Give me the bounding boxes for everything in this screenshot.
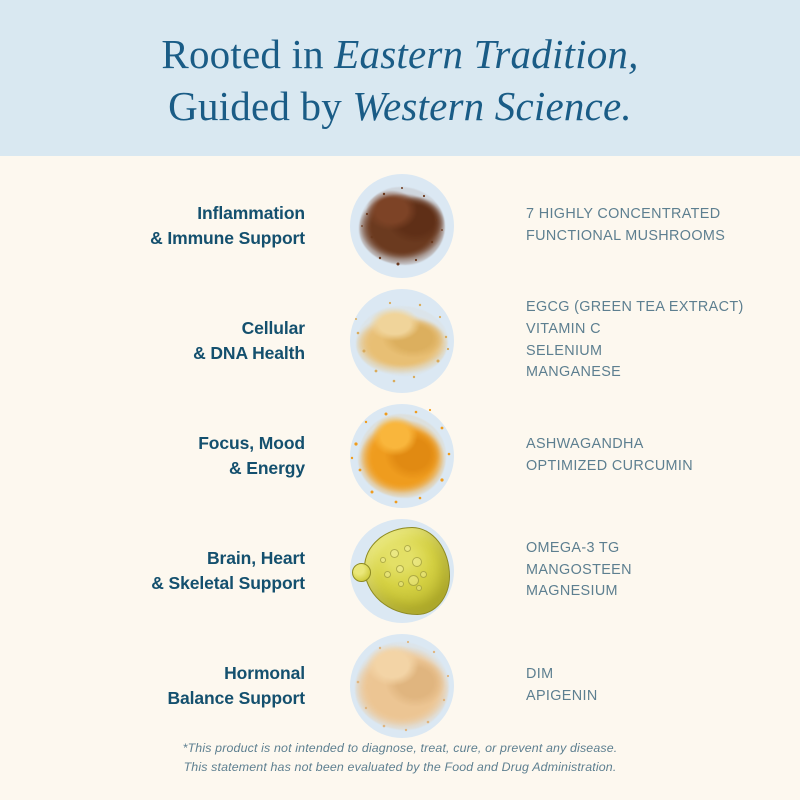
benefit-label: Hormonal Balance Support [0,661,305,711]
benefit-row: Brain, Heart & Skeletal Support [0,513,800,628]
benefit-ingredients: DIM APIGENIN [498,664,800,708]
ingredient-item: OMEGA-3 TG [526,538,800,560]
ingredient-item: APIGENIN [526,686,800,708]
ingredient-item: VITAMIN C [526,319,800,341]
benefit-label: Inflammation & Immune Support [0,201,305,251]
ingredient-item: OPTIMIZED CURCUMIN [526,456,800,478]
headline-line-1: Rooted in Eastern Tradition, [161,28,638,80]
oil-bubble [384,571,391,578]
benefit-ingredients: 7 HIGHLY CONCENTRATED FUNCTIONAL MUSHROO… [498,204,800,248]
benefit-label: Focus, Mood & Energy [0,431,305,481]
oil-bubble [416,585,422,591]
benefit-label: Cellular & DNA Health [0,316,305,366]
benefit-label-line-2: & Immune Support [0,226,305,251]
benefit-label-line-2: & DNA Health [0,341,305,366]
benefit-ingredients: EGCG (GREEN TEA EXTRACT) VITAMIN C SELEN… [498,297,800,385]
powder-mound [356,306,448,376]
oil-small-droplet [352,563,371,582]
benefit-label-line-1: Cellular [0,316,305,341]
ingredient-item: MAGNESIUM [526,581,800,603]
header-banner: Rooted in Eastern Tradition, Guided by W… [0,0,800,156]
benefit-label-line-1: Hormonal [0,661,305,686]
ingredient-item: FUNCTIONAL MUSHROOMS [526,226,800,248]
benefit-rows: Inflammation & Immune Support [0,156,800,743]
headline-line-2: Guided by Western Science. [168,80,632,132]
ingredient-item: SELENIUM [526,341,800,363]
oil-bubble [412,557,422,567]
benefit-row: Cellular & DNA Health [0,283,800,398]
benefit-ingredients: ASHWAGANDHA OPTIMIZED CURCUMIN [498,434,800,478]
benefit-row: Hormonal Balance Support [0,628,800,743]
benefit-row: Focus, Mood & Energy [0,398,800,513]
ingredient-item: 7 HIGHLY CONCENTRATED [526,204,800,226]
disclaimer-line-1: *This product is not intended to diagnos… [0,739,800,759]
powder-mound [355,642,449,730]
ingredient-item: EGCG (GREEN TEA EXTRACT) [526,297,800,319]
headline-line-2-plain: Guided by [168,83,352,129]
infographic-page: Rooted in Eastern Tradition, Guided by W… [0,0,800,800]
benefit-label-line-1: Focus, Mood [0,431,305,456]
mushroom-powder-icon [350,174,454,278]
disclaimer: *This product is not intended to diagnos… [0,739,800,778]
oil-bubble [390,549,399,558]
benefit-label-line-2: & Energy [0,456,305,481]
headline-line-1-italic: Eastern Tradition, [334,31,638,77]
oil-bubble [380,557,386,563]
oil-blob [350,519,454,623]
benefit-label-line-2: Balance Support [0,686,305,711]
benefit-row: Inflammation & Immune Support [0,168,800,283]
ingredient-item: DIM [526,664,800,686]
ingredient-item: ASHWAGANDHA [526,434,800,456]
benefit-label-line-1: Brain, Heart [0,546,305,571]
ingredient-item: MANGOSTEEN [526,560,800,582]
benefit-visual [305,174,498,278]
powder-mound [358,414,446,498]
oil-bubble [404,545,411,552]
oil-body [364,527,450,615]
benefit-label: Brain, Heart & Skeletal Support [0,546,305,596]
benefit-visual [305,634,498,738]
turmeric-powder-icon [350,404,454,508]
benefit-ingredients: OMEGA-3 TG MANGOSTEEN MAGNESIUM [498,538,800,604]
headline-line-2-italic: Western Science. [352,83,631,129]
benefit-visual [305,289,498,393]
ingredient-item: MANGANESE [526,362,800,384]
benefit-label-line-2: & Skeletal Support [0,571,305,596]
beige-powder-icon [350,634,454,738]
benefit-visual [305,519,498,623]
oil-bubble [396,565,404,573]
oil-bubble [420,571,427,578]
tan-powder-icon [350,289,454,393]
disclaimer-line-2: This statement has not been evaluated by… [0,758,800,778]
oil-droplet-icon [350,519,454,623]
benefit-label-line-1: Inflammation [0,201,305,226]
oil-bubble [398,581,404,587]
oil-bubble [408,575,419,586]
headline-line-1-plain: Rooted in [161,31,334,77]
powder-mound [359,187,445,265]
benefit-visual [305,404,498,508]
